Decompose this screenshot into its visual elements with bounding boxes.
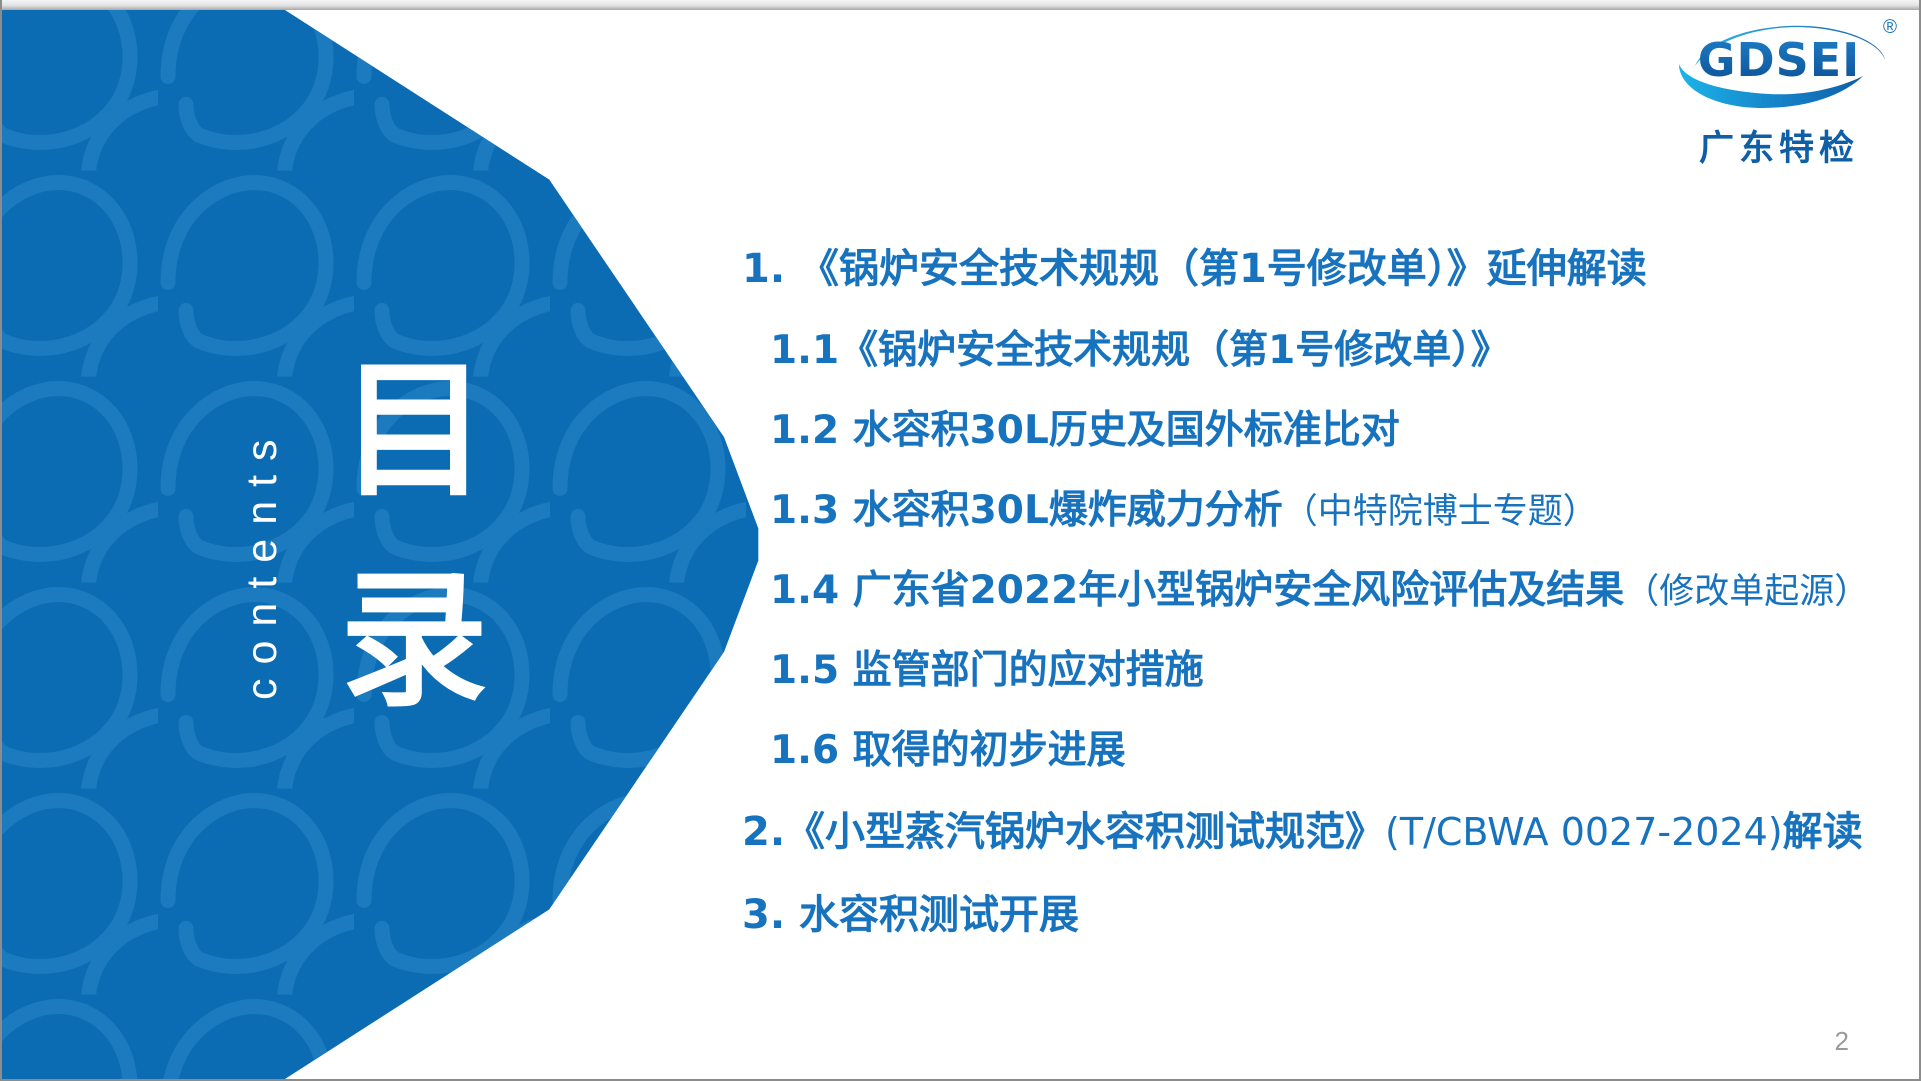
toc-item-label: 2.《小型蒸汽锅炉水容积测试规范》 — [742, 809, 1385, 855]
toc-item-1[interactable]: 1. 《锅炉安全技术规规（第1号修改单）》延伸解读 — [742, 236, 1902, 294]
panel-title-char-2: 录 — [320, 536, 510, 746]
logo-mark: GDSEI ® — [1659, 14, 1899, 118]
panel-title-mulu: 目 录 — [320, 326, 510, 746]
toc-item-label: 1.4 广东省2022年小型锅炉安全风险评估及结果 — [770, 568, 1624, 613]
toc-item-label: 3. 水容积测试开展 — [742, 892, 1079, 938]
contents-banner-panel: contents 目 录 — [2, 8, 762, 1081]
toc-item-1-5[interactable]: 1.5 监管部门的应对措施 — [770, 639, 1902, 695]
page-number: 2 — [1835, 1026, 1849, 1057]
toc-item-suffix: 解读 — [1783, 809, 1863, 855]
panel-title-char-1: 目 — [320, 326, 510, 536]
toc-item-1-4[interactable]: 1.4 广东省2022年小型锅炉安全风险评估及结果（修改单起源） — [770, 559, 1902, 615]
toc-item-label: 1.3 水容积30L爆炸威力分析 — [770, 488, 1283, 533]
panel-subtitle-contents: contents — [238, 360, 287, 700]
logo-wordmark-text: GDSEI — [1698, 33, 1861, 87]
toc-item-label: 1. 《锅炉安全技术规规（第1号修改单）》延伸解读 — [742, 246, 1647, 292]
toc-item-1-2[interactable]: 1.2 水容积30L历史及国外标准比对 — [770, 399, 1902, 455]
gdsei-wordmark-icon: GDSEI — [1659, 14, 1899, 118]
window-chrome-bar — [2, 0, 1921, 10]
toc-item-1-6[interactable]: 1.6 取得的初步进展 — [770, 719, 1902, 775]
toc-item-note: （中特院博士专题） — [1283, 492, 1598, 532]
slide-canvas: contents 目 录 — [0, 0, 1921, 1081]
toc-item-2[interactable]: 2.《小型蒸汽锅炉水容积测试规范》(T/CBWA 0027-2024)解读 — [742, 799, 1902, 857]
registered-trademark-icon: ® — [1883, 18, 1897, 37]
toc-item-label: 1.5 监管部门的应对措施 — [770, 648, 1204, 693]
toc-item-1-1[interactable]: 1.1《锅炉安全技术规规（第1号修改单）》 — [770, 319, 1902, 375]
toc-item-note: （修改单起源） — [1624, 572, 1869, 612]
toc-item-label: 1.1《锅炉安全技术规规（第1号修改单）》 — [770, 328, 1510, 373]
logo-company-name-cn: 广东特检 — [1659, 120, 1899, 171]
toc-item-label: 1.6 取得的初步进展 — [770, 728, 1126, 773]
toc-item-1-3[interactable]: 1.3 水容积30L爆炸威力分析（中特院博士专题） — [770, 479, 1902, 535]
toc-item-label: 1.2 水容积30L历史及国外标准比对 — [770, 408, 1400, 453]
toc-item-3[interactable]: 3. 水容积测试开展 — [742, 882, 1902, 940]
company-logo: GDSEI ® 广东特检 — [1659, 14, 1899, 174]
table-of-contents: 1. 《锅炉安全技术规规（第1号修改单）》延伸解读 1.1《锅炉安全技术规规（第… — [742, 236, 1902, 965]
toc-item-standard-code: (T/CBWA 0027-2024) — [1385, 810, 1783, 854]
